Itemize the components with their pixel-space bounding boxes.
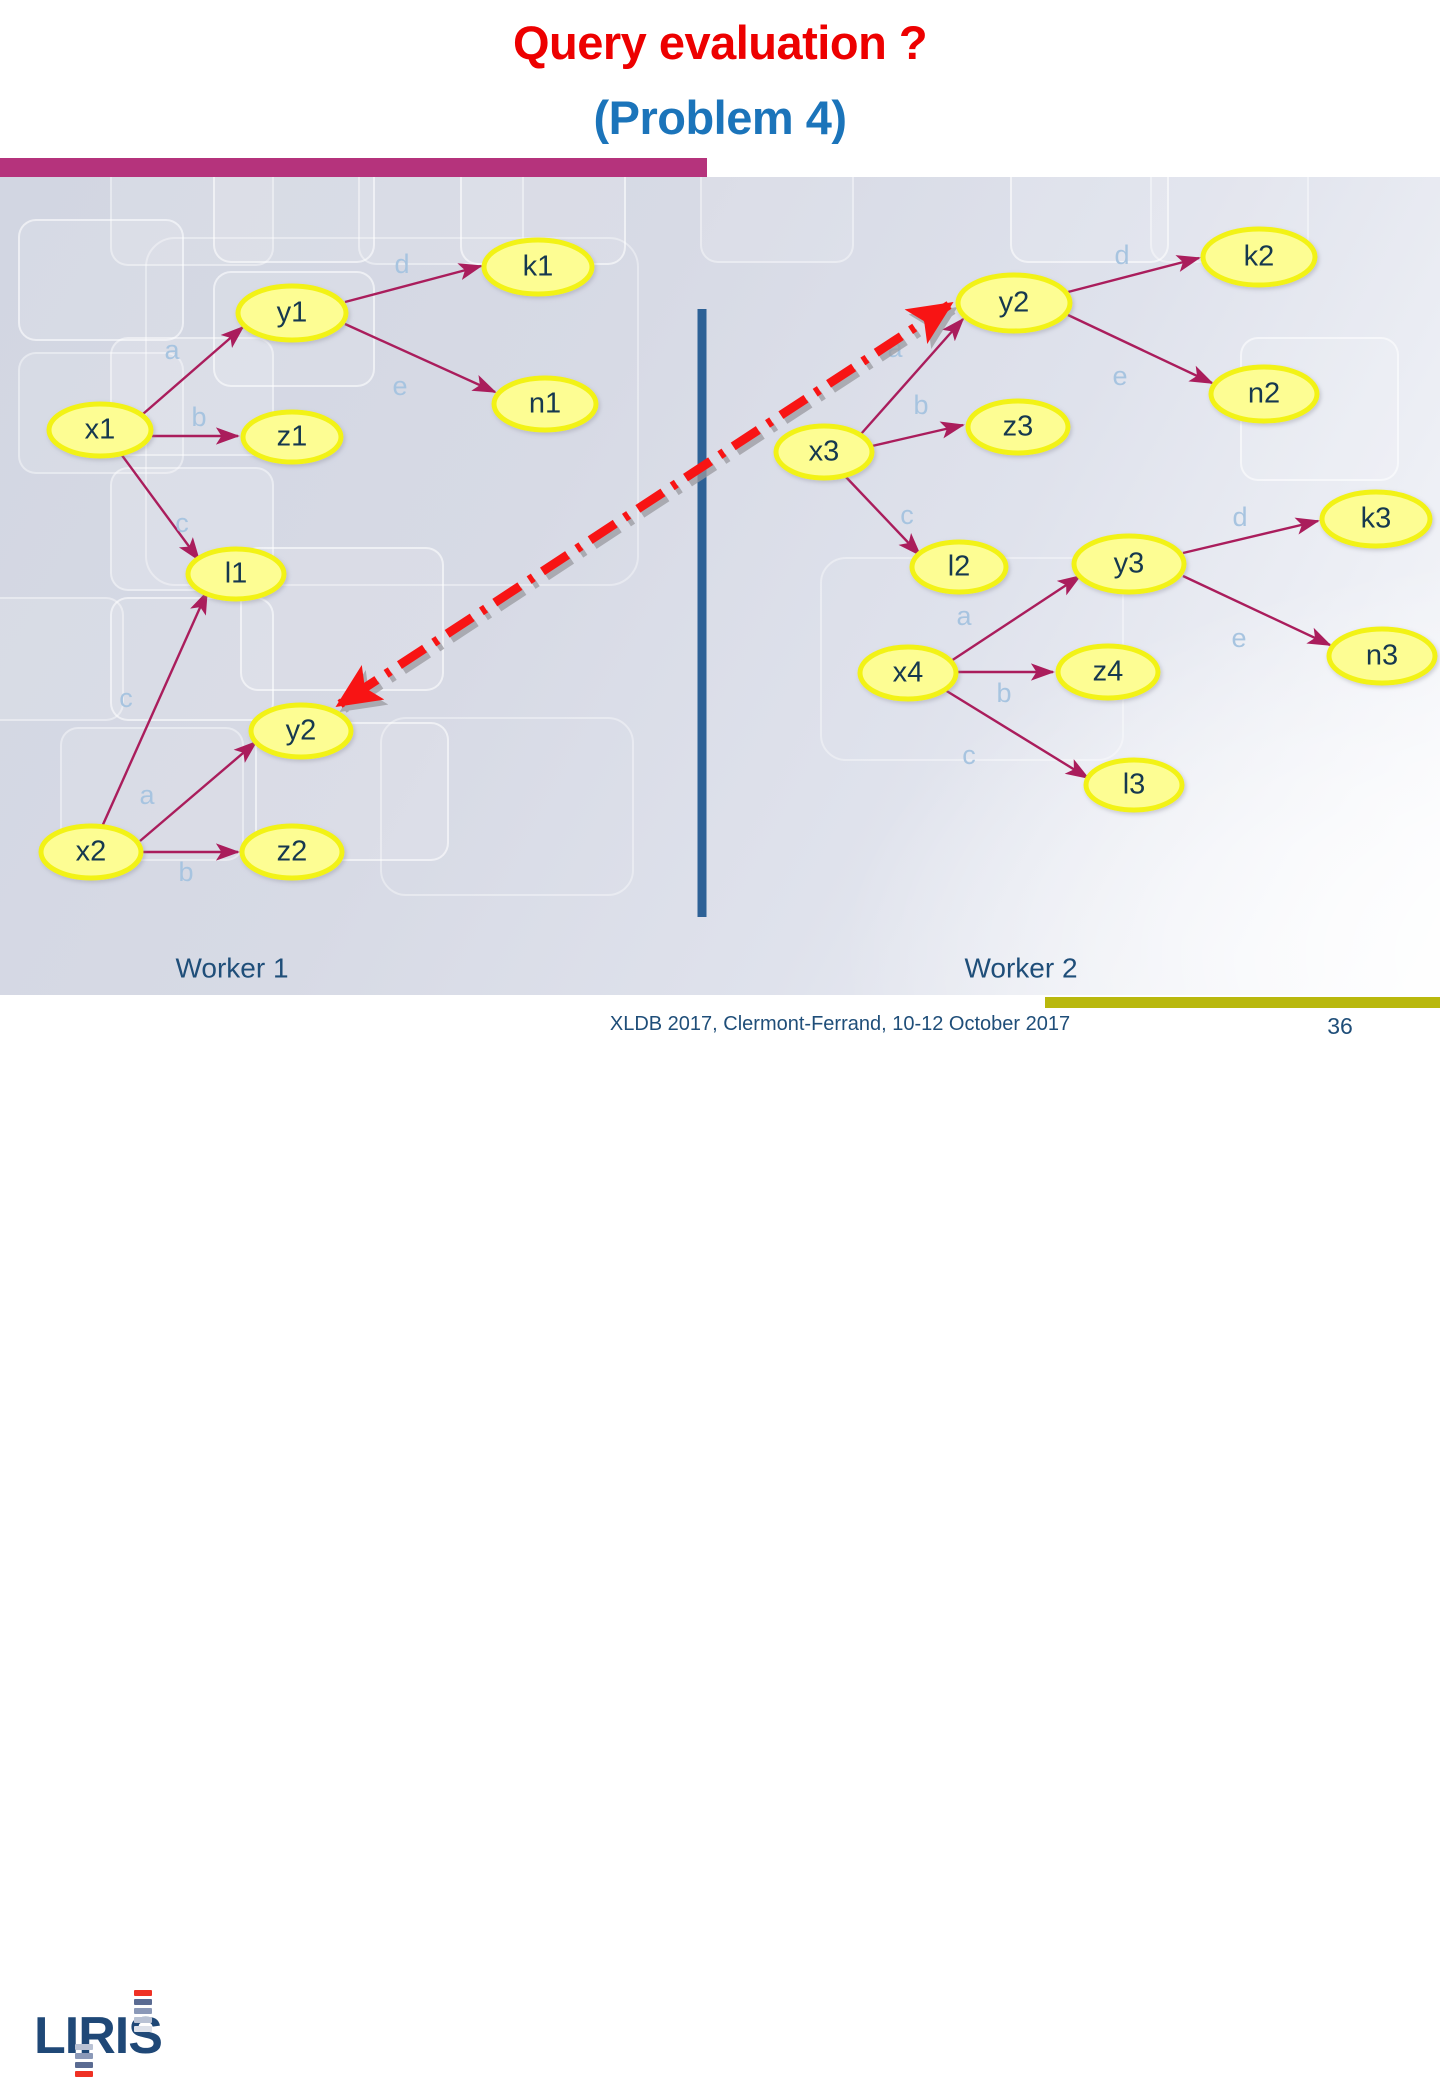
graph-node-z4[interactable]: z4 bbox=[1058, 646, 1158, 698]
conference-footer-text: XLDB 2017, Clermont-Ferrand, 10-12 Octob… bbox=[460, 1013, 1220, 1036]
graph-node-k1[interactable]: k1 bbox=[484, 240, 592, 294]
edge-label-y2b-n2: e bbox=[1112, 361, 1127, 391]
nodes-layer: x1y1z1k1n1l1y2x2z2x3y2z3k2n2l2y3k3n3x4z4… bbox=[41, 229, 1435, 878]
page-title-line2: (Problem 4) bbox=[0, 93, 1440, 142]
graph-node-x3[interactable]: x3 bbox=[776, 426, 872, 478]
worker-labels-layer: Worker 1Worker 2 bbox=[175, 952, 1077, 983]
edge-x3-y2b bbox=[861, 319, 963, 434]
node-label-l2: l2 bbox=[948, 551, 971, 583]
node-label-z3: z3 bbox=[1003, 411, 1034, 443]
footer: LIRIS XLDB 2017, Clermont-Ferrand, 10-12… bbox=[0, 995, 1440, 1080]
graph-node-n2[interactable]: n2 bbox=[1211, 367, 1317, 421]
graph-node-l2[interactable]: l2 bbox=[912, 542, 1006, 592]
graph-node-k2[interactable]: k2 bbox=[1203, 229, 1315, 285]
edge-y2b-k2 bbox=[1068, 258, 1199, 292]
node-label-l1: l1 bbox=[225, 558, 248, 590]
graph-node-y1[interactable]: y1 bbox=[238, 286, 346, 340]
edge-y3-k3 bbox=[1183, 521, 1318, 553]
edge-y2b-n2 bbox=[1068, 315, 1212, 383]
edge-label-x4-y3: a bbox=[956, 601, 972, 631]
edge-label-y3-n3: e bbox=[1231, 623, 1246, 653]
edge-label-x1-z1: b bbox=[191, 402, 206, 432]
edge-y1-k1 bbox=[345, 266, 481, 302]
graph-node-n1[interactable]: n1 bbox=[494, 378, 596, 430]
edge-label-y1-k1: d bbox=[394, 249, 409, 279]
graph-node-y2a[interactable]: y2 bbox=[251, 705, 351, 757]
node-label-x2: x2 bbox=[76, 836, 107, 868]
edge-x2-y2a bbox=[140, 742, 256, 841]
graph-node-l1[interactable]: l1 bbox=[188, 549, 284, 599]
edge-y1-n1 bbox=[345, 324, 495, 392]
worker-1-label: Worker 1 bbox=[175, 952, 288, 983]
magenta-accent-bar bbox=[0, 158, 707, 177]
edge-label-x1-y1: a bbox=[164, 335, 180, 365]
edge-x1-l1 bbox=[121, 454, 199, 560]
node-label-n3: n3 bbox=[1366, 640, 1398, 672]
page-number: 36 bbox=[1280, 1013, 1400, 1040]
node-label-k3: k3 bbox=[1361, 503, 1392, 535]
edge-label-x4-l3: c bbox=[962, 740, 976, 770]
node-label-x3: x3 bbox=[809, 436, 840, 468]
node-label-z4: z4 bbox=[1093, 656, 1124, 688]
node-label-y2b: y2 bbox=[999, 287, 1030, 319]
edge-label-y1-n1: e bbox=[392, 371, 407, 401]
node-label-n2: n2 bbox=[1248, 378, 1280, 410]
graph-node-x1[interactable]: x1 bbox=[49, 404, 151, 456]
graph-node-y2b[interactable]: y2 bbox=[958, 275, 1070, 331]
graph-node-n3[interactable]: n3 bbox=[1329, 629, 1435, 683]
graph-node-l3[interactable]: l3 bbox=[1086, 760, 1182, 810]
node-label-x1: x1 bbox=[85, 414, 116, 446]
page-title-line1: Query evaluation ? bbox=[0, 18, 1440, 67]
graph-node-k3[interactable]: k3 bbox=[1322, 492, 1430, 546]
transfer-arrow-shadow bbox=[344, 310, 953, 709]
node-label-n1: n1 bbox=[529, 388, 561, 420]
liris-logo: LIRIS bbox=[34, 2000, 199, 2062]
title-area: Query evaluation ? (Problem 4) bbox=[0, 0, 1440, 159]
edge-label-x4-z4: b bbox=[996, 678, 1011, 708]
diagram-canvas: abcdecababcdeabcde x1y1z1k1n1l1y2x2z2x3y… bbox=[0, 177, 1440, 995]
node-label-y3: y3 bbox=[1114, 548, 1145, 580]
graph-node-x2[interactable]: x2 bbox=[41, 826, 141, 878]
edge-label-x2-l1: c bbox=[119, 683, 133, 713]
graph-svg: abcdecababcdeabcde x1y1z1k1n1l1y2x2z2x3y… bbox=[0, 177, 1440, 995]
edge-label-y2b-k2: d bbox=[1114, 240, 1129, 270]
worker-2-label: Worker 2 bbox=[964, 952, 1077, 983]
logo-dashes-top bbox=[134, 1990, 152, 2035]
node-label-k2: k2 bbox=[1244, 241, 1275, 273]
graph-node-z2[interactable]: z2 bbox=[242, 826, 342, 878]
edge-y3-n3 bbox=[1183, 576, 1330, 645]
graph-node-x4[interactable]: x4 bbox=[860, 647, 956, 699]
edge-label-x2-z2: b bbox=[178, 857, 193, 887]
y2-transfer-arrow bbox=[340, 305, 949, 704]
graph-node-z1[interactable]: z1 bbox=[243, 412, 341, 462]
logo-dashes-bottom bbox=[75, 2044, 93, 2080]
node-label-z2: z2 bbox=[277, 836, 308, 868]
node-label-l3: l3 bbox=[1123, 769, 1146, 801]
edge-x3-z3 bbox=[872, 425, 963, 446]
edge-label-x3-z3: b bbox=[913, 390, 928, 420]
node-label-z1: z1 bbox=[277, 421, 308, 453]
node-label-y1: y1 bbox=[277, 297, 308, 329]
graph-node-z3[interactable]: z3 bbox=[968, 401, 1068, 453]
edge-label-x3-l2: c bbox=[900, 500, 914, 530]
graph-node-y3[interactable]: y3 bbox=[1074, 536, 1184, 592]
slide: Query evaluation ? (Problem 4) bbox=[0, 0, 1440, 1080]
edge-x1-y1 bbox=[143, 327, 243, 414]
edge-label-y3-k3: d bbox=[1232, 502, 1247, 532]
edge-label-x1-l1: c bbox=[175, 508, 189, 538]
node-label-y2a: y2 bbox=[286, 715, 317, 747]
edge-label-x2-y2a: a bbox=[139, 780, 155, 810]
olive-accent-bar bbox=[1045, 997, 1440, 1008]
node-label-k1: k1 bbox=[523, 251, 554, 283]
node-label-x4: x4 bbox=[893, 657, 924, 689]
transfer-layer bbox=[340, 305, 953, 709]
